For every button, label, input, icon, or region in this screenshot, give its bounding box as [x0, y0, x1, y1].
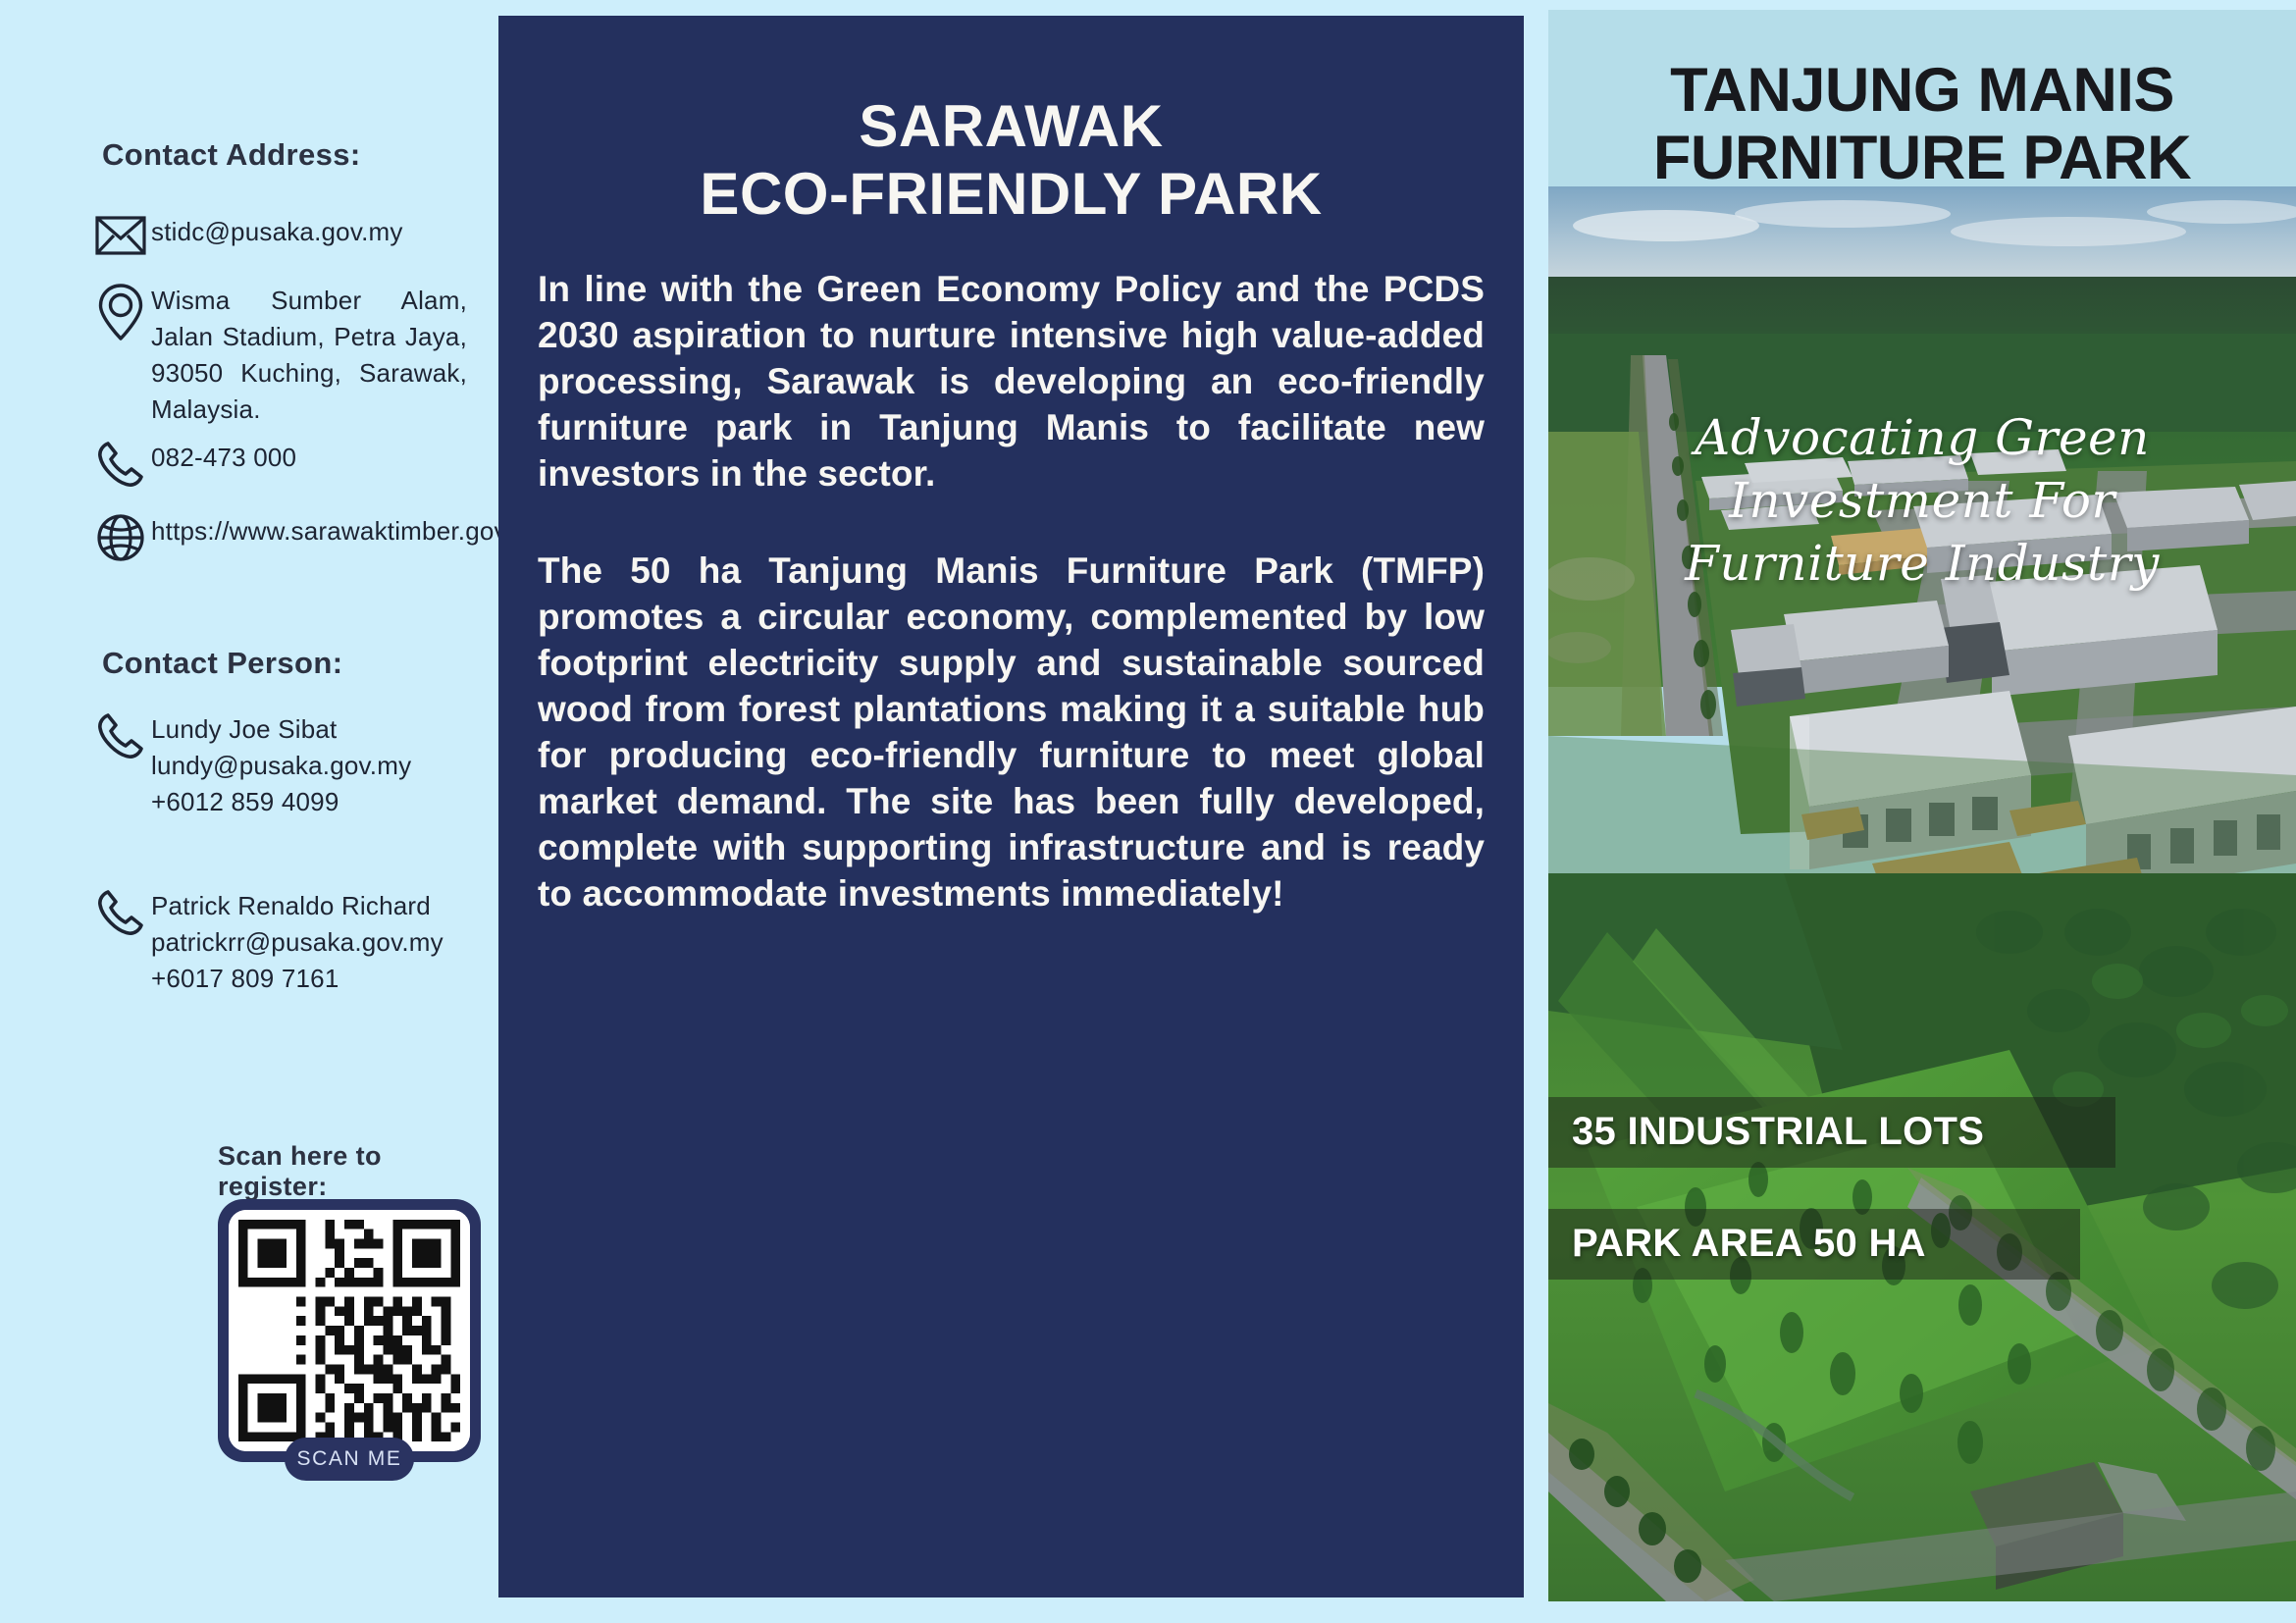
- contact-person-phone[interactable]: +6012 859 4099: [151, 784, 411, 820]
- qr-code-image: [229, 1210, 470, 1451]
- center-panel-title: SARAWAK ECO-FRIENDLY PARK: [538, 16, 1485, 228]
- contact-person-row: Patrick Renaldo Richard patrickrr@pusaka…: [90, 888, 444, 997]
- contact-address-row: Wisma Sumber Alam, Jalan Stadium, Petra …: [90, 283, 467, 428]
- contact-person-heading: Contact Person:: [102, 646, 342, 681]
- phone-icon: [90, 440, 151, 489]
- contact-person-name: Patrick Renaldo Richard: [151, 888, 444, 924]
- contact-email-text[interactable]: stidc@pusaka.gov.my: [151, 214, 403, 250]
- qr-code-block[interactable]: SCAN ME: [218, 1199, 481, 1484]
- caption-park-area: PARK AREA 50 HA: [1548, 1209, 2080, 1280]
- brochure-page: Contact Address: stidc@pusaka.gov.my Wis…: [0, 0, 2296, 1623]
- scan-to-register-heading: Scan here to register:: [218, 1141, 498, 1202]
- aerial-photo-industrial-park: [1548, 186, 2296, 1601]
- contact-website-text[interactable]: https://www.sarawaktimber.gov.my: [151, 513, 547, 550]
- scan-me-badge: SCAN ME: [285, 1438, 414, 1481]
- overview-paragraph-1: In line with the Green Economy Policy an…: [538, 267, 1485, 497]
- center-title-line-2: ECO-FRIENDLY PARK: [538, 160, 1485, 228]
- overview-paragraph-2: The 50 ha Tanjung Manis Furniture Park (…: [538, 549, 1485, 917]
- contact-website-row: https://www.sarawaktimber.gov.my: [90, 513, 547, 562]
- qr-code-frame: [218, 1199, 481, 1462]
- location-pin-icon: [90, 283, 151, 341]
- cover-panel: TANJUNG MANIS FURNITURE PARK: [1548, 10, 2296, 1601]
- contact-phone-row: 082-473 000: [90, 440, 296, 489]
- cover-title-line-2: FURNITURE PARK: [1572, 125, 2272, 192]
- cover-title-line-1: TANJUNG MANIS: [1572, 57, 2272, 125]
- contact-phone-text[interactable]: 082-473 000: [151, 440, 296, 476]
- cover-title: TANJUNG MANIS FURNITURE PARK: [1548, 10, 2296, 193]
- contact-address-text: Wisma Sumber Alam, Jalan Stadium, Petra …: [151, 283, 467, 428]
- contact-person-email[interactable]: lundy@pusaka.gov.my: [151, 748, 411, 784]
- phone-icon: [90, 711, 151, 760]
- contact-address-heading: Contact Address:: [102, 137, 361, 173]
- contact-person-row: Lundy Joe Sibat lundy@pusaka.gov.my +601…: [90, 711, 411, 820]
- overview-panel: SARAWAK ECO-FRIENDLY PARK In line with t…: [498, 16, 1524, 1597]
- contact-person-email[interactable]: patrickrr@pusaka.gov.my: [151, 924, 444, 961]
- contact-email-row: stidc@pusaka.gov.my: [90, 214, 403, 255]
- phone-icon: [90, 888, 151, 937]
- globe-icon: [90, 513, 151, 562]
- contact-person-phone[interactable]: +6017 809 7161: [151, 961, 444, 997]
- contact-panel: Contact Address: stidc@pusaka.gov.my Wis…: [0, 0, 498, 1623]
- contact-person-name: Lundy Joe Sibat: [151, 711, 411, 748]
- caption-industrial-lots: 35 INDUSTRIAL LOTS: [1548, 1097, 2115, 1168]
- envelope-icon: [90, 216, 151, 255]
- center-title-line-1: SARAWAK: [538, 92, 1485, 160]
